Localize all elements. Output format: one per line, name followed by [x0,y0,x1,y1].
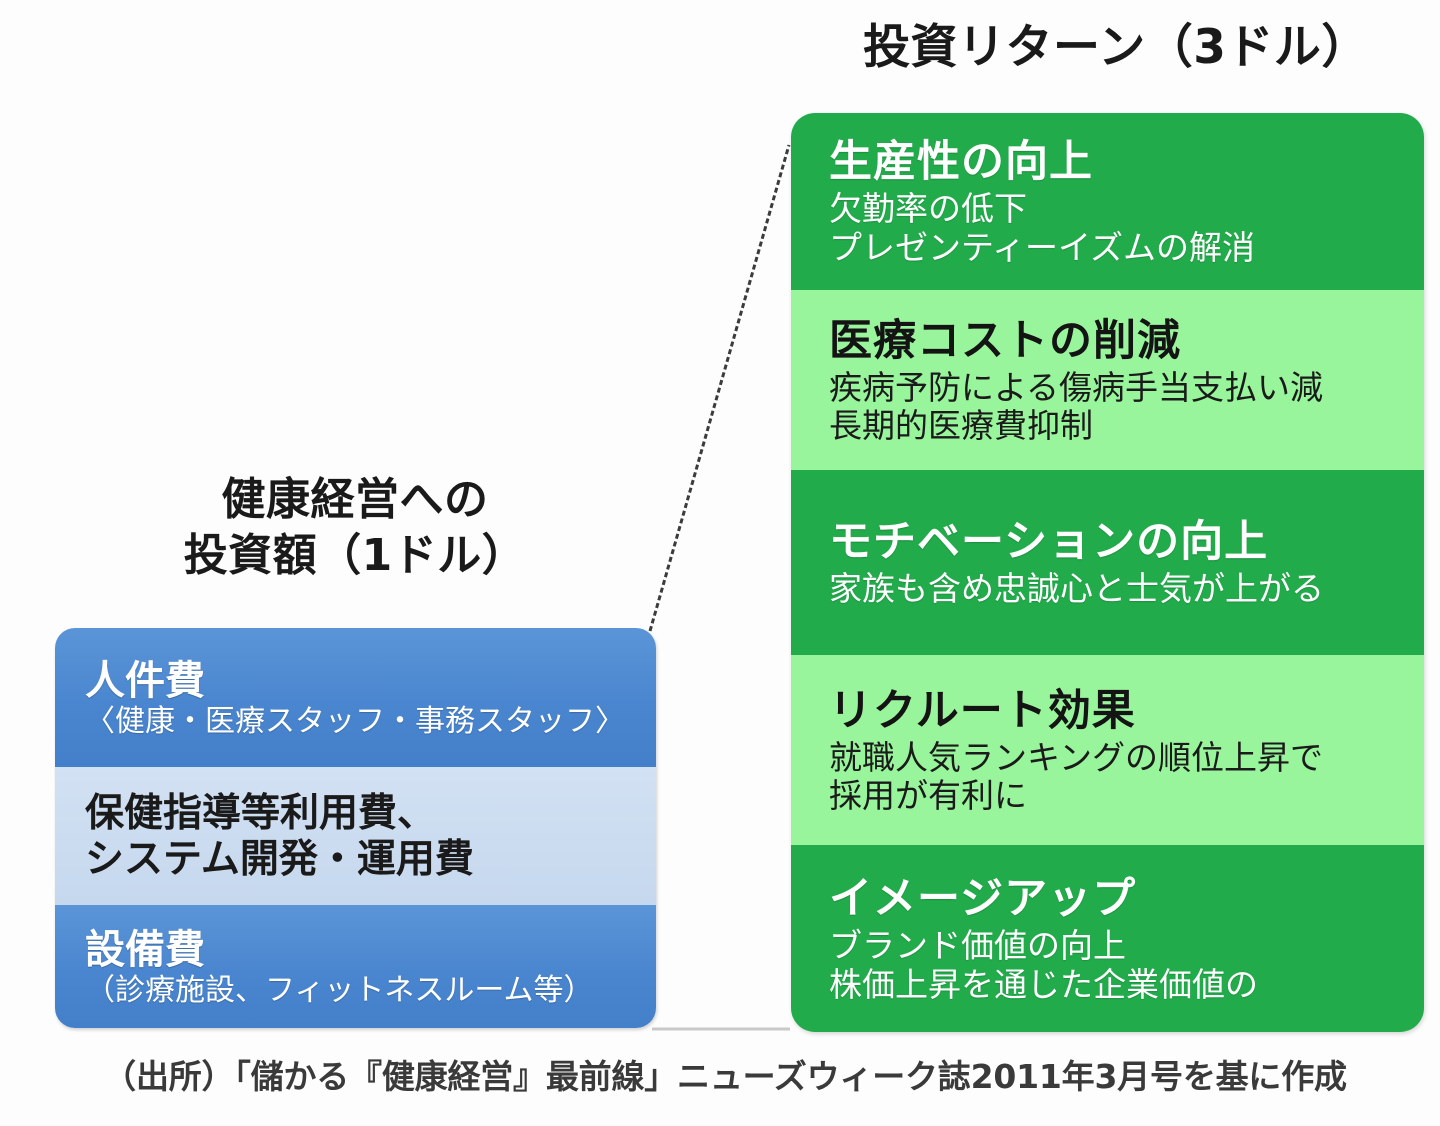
return-item-image-up-title: イメージアップ [829,875,1408,923]
return-item-motivation-title: モチベーションの向上 [829,518,1408,566]
return-item-productivity-sub: 欠勤率の低下 プレゼンティーイズムの解消 [829,190,1408,267]
return-item-image-up-sub: ブランド価値の向上 株価上昇を通じた企業価値の [829,927,1408,1004]
return-item-image-up: イメージアップ ブランド価値の向上 株価上昇を通じた企業価値の [791,845,1424,1032]
source-note: （出所）「儲かる『健康経営』最前線」ニューズウィーク誌2011年3月号を基に作成 [60,1050,1390,1098]
investment-item-health-guidance: 保健指導等利用費、 システム開発・運用費 [55,767,656,905]
return-item-motivation: モチベーションの向上 家族も含め忠誠心と士気が上がる [791,470,1424,655]
return-item-medical-cost-sub: 疾病予防による傷病手当支払い減 長期的医療費抑制 [829,369,1408,446]
investment-stack: 人件費 〈健康・医療スタッフ・事務スタッフ〉 保健指導等利用費、 システム開発・… [55,628,656,1028]
return-item-recruiting-title: リクルート効果 [829,687,1408,735]
return-item-recruiting: リクルート効果 就職人気ランキングの順位上昇で 採用が有利に [791,655,1424,845]
investment-item-facilities: 設備費 （診療施設、フィットネスルーム等） [55,905,656,1028]
diagram-canvas: 投資リターン（3ドル） 健康経営への 投資額（1ドル） 人件費 〈健康・医療スタ… [0,0,1440,1126]
return-title: 投資リターン（3ドル） [806,18,1426,78]
investment-item-personnel: 人件費 〈健康・医療スタッフ・事務スタッフ〉 [55,628,656,767]
return-item-recruiting-sub: 就職人気ランキングの順位上昇で 採用が有利に [829,739,1408,816]
return-item-productivity-title: 生産性の向上 [829,138,1408,186]
investment-item-personnel-sub: 〈健康・医療スタッフ・事務スタッフ〉 [85,705,632,739]
investment-item-health-guidance-title: 保健指導等利用費、 システム開発・運用費 [85,791,632,883]
return-item-motivation-sub: 家族も含め忠誠心と士気が上がる [829,570,1408,608]
investment-item-facilities-sub: （診療施設、フィットネスルーム等） [85,974,632,1008]
connector-line-top [650,145,789,631]
investment-item-personnel-title: 人件費 [85,659,632,703]
return-item-productivity: 生産性の向上 欠勤率の低下 プレゼンティーイズムの解消 [791,113,1424,290]
return-item-medical-cost: 医療コストの削減 疾病予防による傷病手当支払い減 長期的医療費抑制 [791,290,1424,470]
investment-title: 健康経営への 投資額（1ドル） [55,472,655,585]
return-item-medical-cost-title: 医療コストの削減 [829,317,1408,365]
returns-stack: 生産性の向上 欠勤率の低下 プレゼンティーイズムの解消 医療コストの削減 疾病予… [791,113,1424,1032]
investment-item-facilities-title: 設備費 [85,928,632,972]
